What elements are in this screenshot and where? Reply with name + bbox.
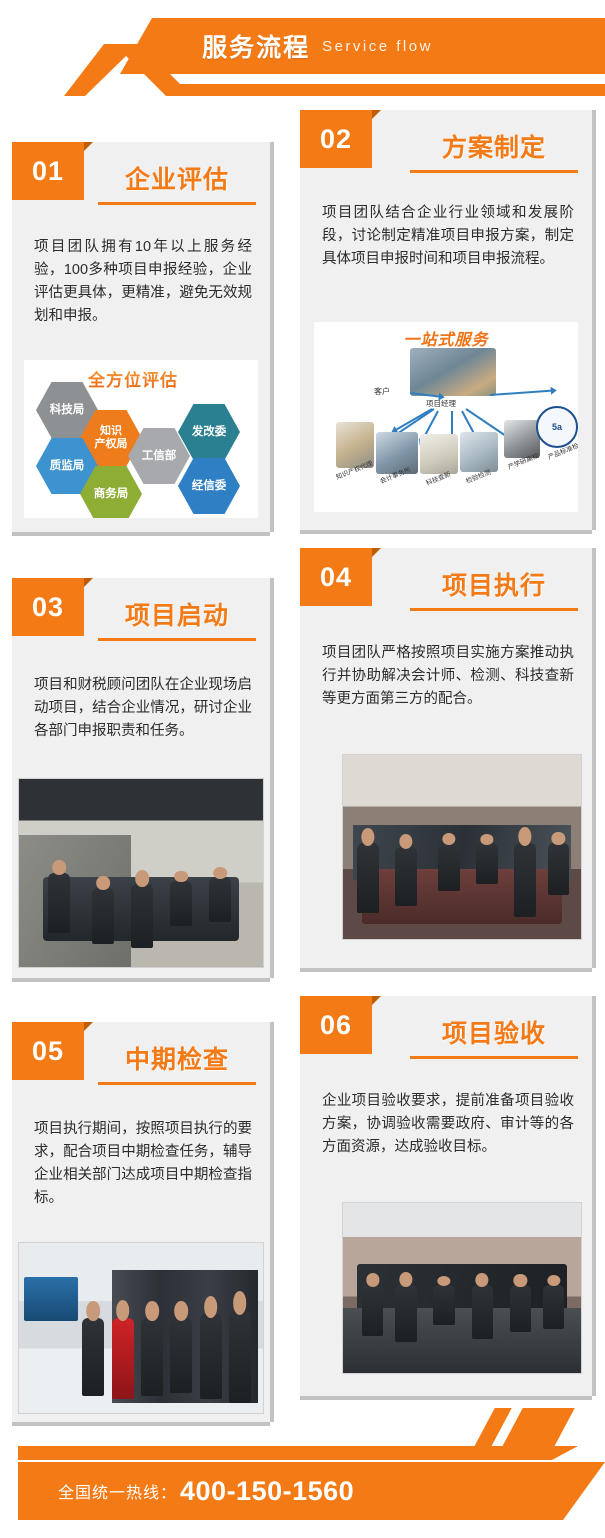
title-underline <box>98 638 256 641</box>
card-heading: 方案制定 <box>410 128 578 173</box>
card-number-badge: 06 <box>300 996 372 1054</box>
person-figure <box>92 888 114 944</box>
card-number-badge: 05 <box>12 1022 84 1080</box>
process-card-02[interactable]: 02 方案制定 项目团队结合企业行业领域和发展阶段，讨论制定精准项目申报方案，制… <box>300 110 592 530</box>
photo-site-visit <box>18 1242 264 1414</box>
card-description: 项目团队结合企业行业领域和发展阶段，讨论制定精准项目申报方案，制定具体项目申报时… <box>322 202 574 271</box>
card-number-badge: 03 <box>12 578 84 636</box>
card-title: 项目验收 <box>410 1014 578 1050</box>
process-card-05[interactable]: 05 中期检查 项目执行期间，按照项目执行的要求，配合项目中期检查任务，辅导企业… <box>12 1022 270 1422</box>
person-figure <box>357 843 378 913</box>
person-figure <box>510 1285 531 1333</box>
process-card-01[interactable]: 01 企业评估 项目团队拥有10年以上服务经验，100多种项目申报经验，企业评估… <box>12 142 270 532</box>
branch-photo-3 <box>420 434 458 474</box>
process-card-06[interactable]: 06 项目验收 企业项目验收要求，提前准备项目验收方案，协调验收需要政府、审计等… <box>300 996 592 1396</box>
person-figure <box>48 873 70 933</box>
card-title: 项目启动 <box>98 596 256 632</box>
card-title: 方案制定 <box>410 128 578 164</box>
title-underline <box>98 202 256 205</box>
person-figure <box>438 843 459 891</box>
photo-people-group <box>19 1243 263 1413</box>
title-underline <box>98 1082 256 1085</box>
person-figure <box>514 843 535 917</box>
title-underline <box>410 608 578 611</box>
card-heading: 项目验收 <box>410 1014 578 1059</box>
person-figure <box>395 847 416 906</box>
person-figure <box>548 843 569 895</box>
photo-working-meeting <box>342 754 582 940</box>
one-stop-service-figure: 一站式服务 客户 项目经理 5a 知识产权代理 会计事务所 科技查新 检验检测 … <box>314 322 578 512</box>
person-figure <box>229 1311 251 1403</box>
hotline-label: 全国统一热线： <box>58 1479 177 1503</box>
card-heading: 中期检查 <box>98 1040 256 1085</box>
card-number-badge: 02 <box>300 110 372 168</box>
hex-label: 知识产权局 <box>95 425 128 451</box>
photo-conference-room <box>18 778 264 968</box>
card-description: 项目团队严格按照项目实施方案推动执行并协助解决会计师、检测、科技查新等更方面第三… <box>322 642 574 711</box>
person-figure <box>433 1285 454 1326</box>
process-card-03[interactable]: 03 项目启动 项目和财税顾问团队在企业现场启动项目，结合企业情况，研讨企业各部… <box>12 578 270 978</box>
card-description: 企业项目验收要求，提前准备项目验收方案，协调验收需要政府、审计等的各方面资源，达… <box>322 1090 574 1159</box>
photo-boardroom <box>342 1202 582 1374</box>
person-figure <box>200 1314 222 1399</box>
card-heading: 项目启动 <box>98 596 256 641</box>
person-figure <box>476 843 497 883</box>
person-figure <box>472 1285 493 1339</box>
process-card-grid: 01 企业评估 项目团队拥有10年以上服务经验，100多种项目申报经验，企业评估… <box>0 0 605 1538</box>
person-figure-red-coat <box>112 1318 134 1400</box>
person-figure <box>170 1318 192 1393</box>
person-figure <box>141 1318 163 1396</box>
card-number-badge: 04 <box>300 548 372 606</box>
hotline-group: 全国统一热线： 400-150-1560 <box>58 1462 354 1520</box>
card-description: 项目执行期间，按照项目执行的要求，配合项目中期检查任务，辅导企业相关部门达成项目… <box>34 1118 252 1210</box>
photo-people-group <box>343 1203 581 1373</box>
client-label: 客户 <box>374 386 390 397</box>
person-figure <box>82 1318 104 1396</box>
card-title: 中期检查 <box>98 1040 256 1076</box>
figure-title: 一站式服务 <box>314 326 578 350</box>
hexagon-evaluation-figure: 全方位评估 科技局 知识产权局 质监局 商务局 工信部 发改委 经信委 <box>24 360 258 518</box>
card-description: 项目和财税顾问团队在企业现场启动项目，结合企业情况，研讨企业各部门申报职责和任务… <box>34 674 252 743</box>
figure-title: 全方位评估 <box>88 366 178 391</box>
hex-node-economic-info: 经信委 <box>178 458 240 514</box>
card-heading: 企业评估 <box>98 160 256 205</box>
photo-people-group <box>19 779 263 967</box>
person-figure <box>395 1285 416 1343</box>
branch-photo-4 <box>460 432 498 472</box>
center-team-photo <box>410 348 496 396</box>
title-underline <box>410 1056 578 1059</box>
person-figure <box>209 877 231 922</box>
card-number-badge: 01 <box>12 142 84 200</box>
page-footer: 全国统一热线： 400-150-1560 <box>0 1440 605 1538</box>
card-title: 项目执行 <box>410 566 578 602</box>
card-title: 企业评估 <box>98 160 256 196</box>
footer-top-line-shape <box>18 1446 605 1460</box>
process-card-04[interactable]: 04 项目执行 项目团队严格按照项目实施方案推动执行并协助解决会计师、检测、科技… <box>300 548 592 968</box>
photo-people-group <box>343 755 581 939</box>
person-figure <box>170 881 192 926</box>
person-figure <box>543 1285 564 1329</box>
title-underline <box>410 170 578 173</box>
hotline-number[interactable]: 400-150-1560 <box>180 1476 354 1507</box>
card-heading: 项目执行 <box>410 566 578 611</box>
person-figure <box>131 884 153 948</box>
card-description: 项目团队拥有10年以上服务经验，100多种项目申报经验，企业评估更具体，更精准，… <box>34 236 252 328</box>
arrow-branch-6 <box>490 390 552 396</box>
person-figure <box>362 1285 383 1336</box>
